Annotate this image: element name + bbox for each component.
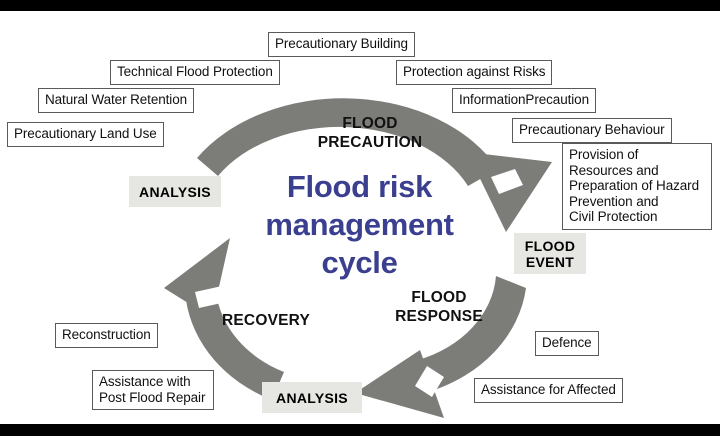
label-information-precaution[interactable]: InformationPrecaution xyxy=(452,88,596,113)
stage-chip-analysis-left[interactable]: ANALYSIS xyxy=(129,176,221,207)
stage-chip-analysis-bottom[interactable]: ANALYSIS xyxy=(262,382,362,413)
label-assistance-post-flood-repair[interactable]: Assistance with Post Flood Repair xyxy=(92,370,214,410)
letterbox-bar-top xyxy=(0,0,720,11)
page-title: Flood risk management cycle xyxy=(237,168,482,282)
label-assistance-for-affected[interactable]: Assistance for Affected xyxy=(474,378,623,403)
phase-label-recovery: RECOVERY xyxy=(222,311,310,330)
label-precautionary-building[interactable]: Precautionary Building xyxy=(268,32,415,57)
label-reconstruction[interactable]: Reconstruction xyxy=(55,323,158,348)
letterbox-bar-bottom xyxy=(0,424,720,436)
label-precautionary-land-use[interactable]: Precautionary Land Use xyxy=(7,122,164,147)
phase-label-flood-response: FLOOD RESPONSE xyxy=(378,288,500,326)
label-protection-against-risks[interactable]: Protection against Risks xyxy=(396,60,552,85)
phase-label-flood-precaution: FLOOD PRECAUTION xyxy=(300,114,440,152)
stage-chip-flood-event[interactable]: FLOOD EVENT xyxy=(514,233,586,274)
label-defence[interactable]: Defence xyxy=(535,331,599,356)
label-precautionary-behaviour[interactable]: Precautionary Behaviour xyxy=(512,118,672,143)
flood-risk-management-cycle-diagram: Flood risk management cycle FLOOD PRECAU… xyxy=(0,0,720,436)
label-provision-of-resources[interactable]: Provision of Resources and Preparation o… xyxy=(562,143,712,230)
label-natural-water-retention[interactable]: Natural Water Retention xyxy=(38,88,194,113)
label-technical-flood-protection[interactable]: Technical Flood Protection xyxy=(110,60,280,85)
